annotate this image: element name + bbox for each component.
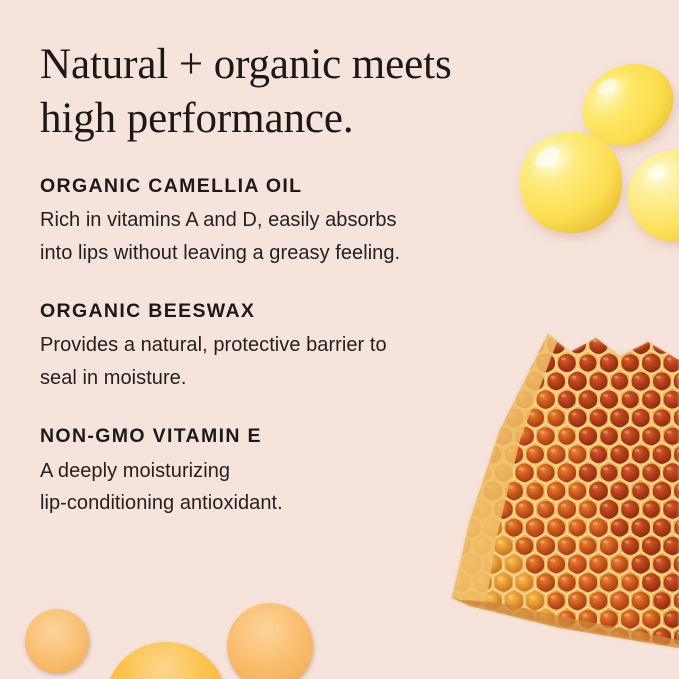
benefit-item-vitamin-e: NON-GMO VITAMIN E A deeply moisturizing …	[40, 424, 520, 519]
benefit-description-line-2: into lips without leaving a greasy feeli…	[40, 237, 520, 269]
headline-line-2: high performance.	[40, 95, 354, 142]
benefit-description-line-1: Provides a natural, protective barrier t…	[40, 329, 520, 361]
benefit-item-beeswax: ORGANIC BEESWAX Provides a natural, prot…	[40, 299, 520, 394]
benefit-description: A deeply moisturizing lip-conditioning a…	[40, 455, 520, 520]
benefit-list: ORGANIC CAMELLIA OIL Rich in vitamins A …	[40, 174, 520, 519]
page-title: Natural + organic meets high performance…	[40, 38, 510, 146]
product-benefits-graphic: Natural + organic meets high performance…	[0, 0, 679, 679]
benefit-title: ORGANIC BEESWAX	[40, 299, 520, 324]
benefit-description-line-1: A deeply moisturizing	[40, 455, 520, 487]
benefit-description: Rich in vitamins A and D, easily absorbs…	[40, 204, 520, 269]
benefit-description-line-2: seal in moisture.	[40, 362, 520, 394]
benefit-item-camellia-oil: ORGANIC CAMELLIA OIL Rich in vitamins A …	[40, 174, 520, 269]
benefit-description-line-2: lip-conditioning antioxidant.	[40, 487, 520, 519]
benefit-title: NON-GMO VITAMIN E	[40, 424, 520, 449]
benefit-description: Provides a natural, protective barrier t…	[40, 329, 520, 394]
text-content: Natural + organic meets high performance…	[0, 0, 679, 679]
headline-line-1: Natural + organic meets	[40, 41, 452, 88]
benefit-description-line-1: Rich in vitamins A and D, easily absorbs	[40, 204, 520, 236]
benefit-title: ORGANIC CAMELLIA OIL	[40, 174, 520, 199]
